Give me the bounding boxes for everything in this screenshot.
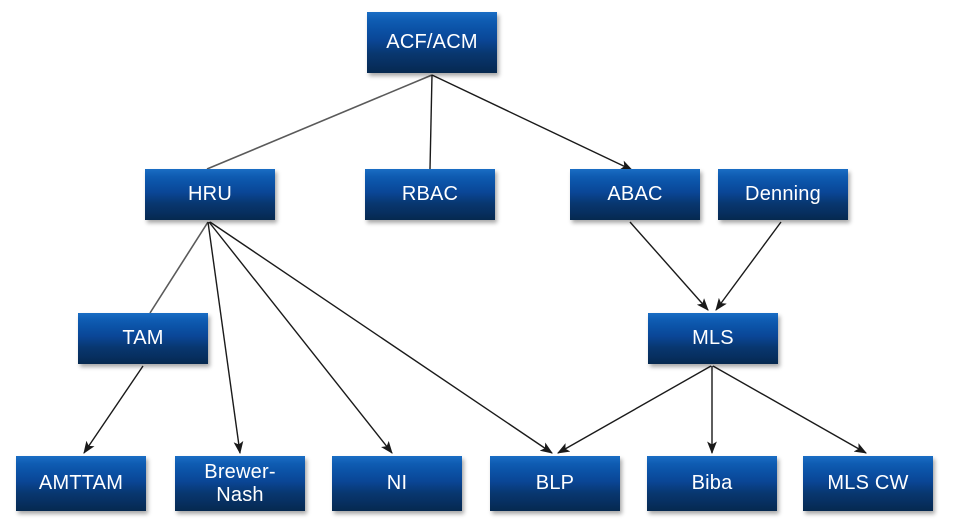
node-label-brewer: Brewer- Nash bbox=[175, 461, 305, 506]
node-label-mlscw: MLS CW bbox=[803, 472, 933, 494]
node-denning[interactable]: Denning bbox=[718, 169, 848, 220]
node-hru[interactable]: HRU bbox=[145, 169, 275, 220]
node-label-tam: TAM bbox=[78, 327, 208, 349]
node-acfacm[interactable]: ACF/ACM bbox=[367, 12, 497, 73]
node-blp[interactable]: BLP bbox=[490, 456, 620, 511]
node-label-hru: HRU bbox=[145, 183, 275, 205]
node-label-rbac: RBAC bbox=[365, 183, 495, 205]
node-label-blp: BLP bbox=[490, 472, 620, 494]
diagram-canvas: ACF/ACMHRURBACABACDenningTAMMLSAMTTAMBre… bbox=[0, 0, 955, 521]
node-amttam[interactable]: AMTTAM bbox=[16, 456, 146, 511]
node-label-biba: Biba bbox=[647, 472, 777, 494]
node-layer: ACF/ACMHRURBACABACDenningTAMMLSAMTTAMBre… bbox=[0, 0, 955, 521]
node-rbac[interactable]: RBAC bbox=[365, 169, 495, 220]
node-tam[interactable]: TAM bbox=[78, 313, 208, 364]
node-label-abac: ABAC bbox=[570, 183, 700, 205]
node-mlscw[interactable]: MLS CW bbox=[803, 456, 933, 511]
node-label-mls: MLS bbox=[648, 327, 778, 349]
node-abac[interactable]: ABAC bbox=[570, 169, 700, 220]
node-label-denning: Denning bbox=[718, 183, 848, 205]
node-label-acfacm: ACF/ACM bbox=[367, 31, 497, 53]
node-label-ni: NI bbox=[332, 472, 462, 494]
node-label-amttam: AMTTAM bbox=[16, 472, 146, 494]
node-ni[interactable]: NI bbox=[332, 456, 462, 511]
node-mls[interactable]: MLS bbox=[648, 313, 778, 364]
node-brewer[interactable]: Brewer- Nash bbox=[175, 456, 305, 511]
node-biba[interactable]: Biba bbox=[647, 456, 777, 511]
